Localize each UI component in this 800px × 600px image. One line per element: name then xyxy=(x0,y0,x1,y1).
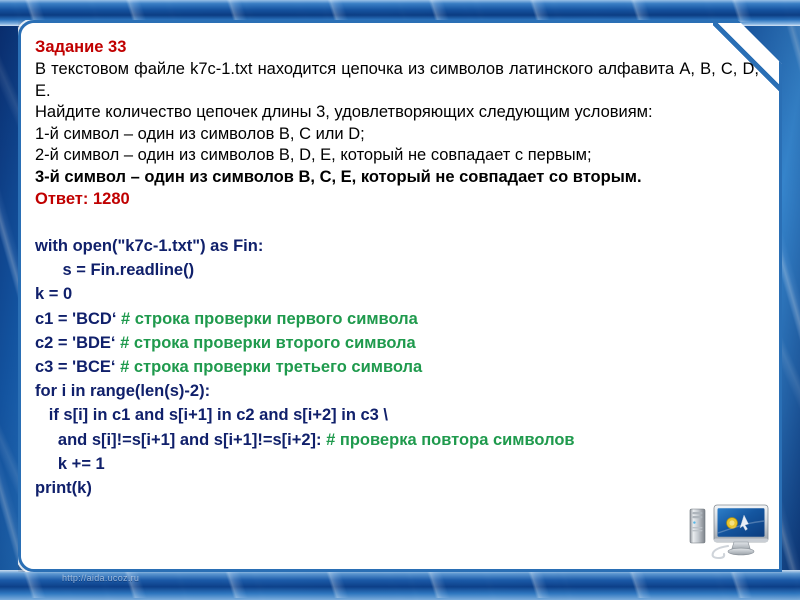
code-comment: # проверка повтора символов xyxy=(326,431,574,449)
code-line: s = Fin.readline() xyxy=(35,258,759,282)
code-block: with open("k7c-1.txt") as Fin: s = Fin.r… xyxy=(35,234,759,500)
code-line: c3 = 'BCE‘ # строка проверки третьего си… xyxy=(35,355,759,379)
code-text: c1 = 'BCD‘ xyxy=(35,310,121,328)
code-text: print(k) xyxy=(35,479,92,497)
code-text: s = Fin.readline() xyxy=(35,261,194,279)
code-comment: # строка проверки второго символа xyxy=(120,334,416,352)
code-line: k += 1 xyxy=(35,452,759,476)
code-line: c1 = 'BCD‘ # строка проверки первого сим… xyxy=(35,307,759,331)
slide-content: Задание 33 В текстовом файле k7c-1.txt н… xyxy=(21,23,785,575)
desktop-computer-icon xyxy=(688,500,774,560)
code-text: c2 = 'BDE‘ xyxy=(35,334,120,352)
code-line: if s[i] in c1 and s[i+1] in c2 and s[i+2… xyxy=(35,403,759,427)
answer-line: Ответ: 1280 xyxy=(35,188,759,210)
code-text: with open("k7c-1.txt") as Fin: xyxy=(35,237,263,255)
code-text: k += 1 xyxy=(35,455,105,473)
code-line: c2 = 'BDE‘ # строка проверки второго сим… xyxy=(35,331,759,355)
code-text: and s[i]!=s[i+1] and s[i+1]!=s[i+2]: xyxy=(35,431,326,449)
spacer xyxy=(35,210,759,234)
statement-line-5-bold: 3-й символ – один из символов B, C, E, к… xyxy=(35,167,759,189)
code-text: k = 0 xyxy=(35,285,72,303)
slide: Задание 33 В текстовом файле k7c-1.txt н… xyxy=(0,0,800,600)
code-line: with open("k7c-1.txt") as Fin: xyxy=(35,234,759,258)
code-comment: # строка проверки третьего символа xyxy=(120,358,422,376)
watermark: http://aida.ucoz.ru xyxy=(62,573,139,583)
code-line: print(k) xyxy=(35,476,759,500)
code-text: for i in range(len(s)-2): xyxy=(35,382,210,400)
code-comment: # строка проверки первого символа xyxy=(121,310,418,328)
page-title: Задание 33 xyxy=(35,37,759,58)
code-line: for i in range(len(s)-2): xyxy=(35,379,759,403)
code-line: and s[i]!=s[i+1] and s[i+1]!=s[i+2]: # п… xyxy=(35,428,759,452)
code-line: k = 0 xyxy=(35,282,759,306)
code-text: if s[i] in c1 and s[i+1] in c2 and s[i+2… xyxy=(35,406,388,424)
top-band-streaks xyxy=(0,0,800,22)
statement-line-2: Найдите количество цепочек длины 3, удов… xyxy=(35,102,759,124)
statement-line-1: В текстовом файле k7c-1.txt находится це… xyxy=(35,59,759,102)
statement-line-4: 2-й символ – один из символов B, D, E, к… xyxy=(35,145,759,167)
content-card: Задание 33 В текстовом файле k7c-1.txt н… xyxy=(18,20,782,572)
statement-line-3: 1-й символ – один из символов B, C или D… xyxy=(35,124,759,146)
code-text: c3 = 'BCE‘ xyxy=(35,358,120,376)
